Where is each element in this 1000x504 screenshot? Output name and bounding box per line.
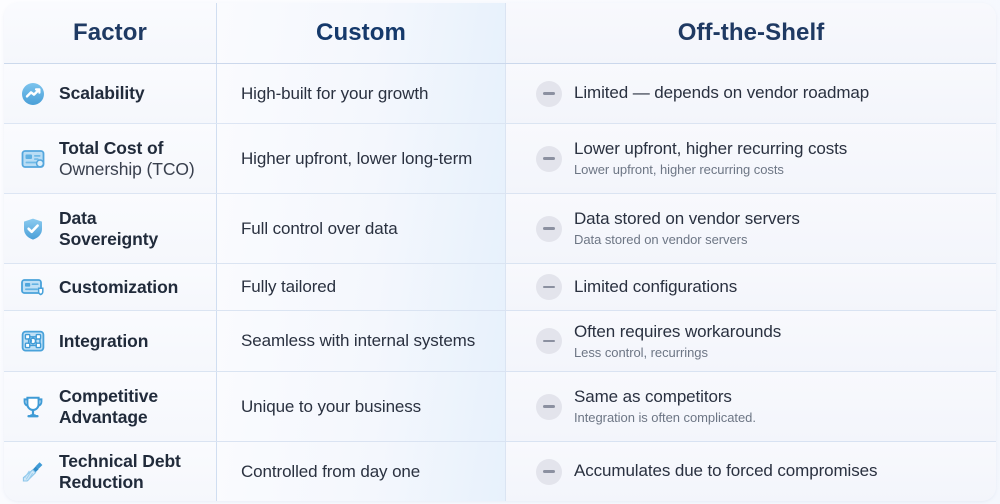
row-off-the-shelf-cell: Data stored on vendor servers Data store… xyxy=(506,194,996,263)
ots-subtext: Less control, recurrings xyxy=(574,345,781,361)
table-header-row: Factor Custom Off-the-Shelf xyxy=(4,3,996,64)
row-factor-cell: Competitive Advantage xyxy=(4,372,216,441)
ots-text: Limited — depends on vendor roadmap xyxy=(574,83,869,104)
table-row: Scalability High-built for your growth L… xyxy=(4,64,996,124)
table-row: Integration Seamless with internal syste… xyxy=(4,311,996,372)
row-custom-cell: Higher upfront, lower long-term xyxy=(216,124,506,193)
ots-subtext: Lower upfront, higher recurring costs xyxy=(574,162,847,178)
row-off-the-shelf-cell: Lower upfront, higher recurring costs Lo… xyxy=(506,124,996,193)
factor-label: Customization xyxy=(59,277,178,298)
row-factor-cell: Customization xyxy=(4,264,216,310)
ots-text: Limited configurations xyxy=(574,277,737,298)
row-custom-cell: Fully tailored xyxy=(216,264,506,310)
ots-text: Data stored on vendor servers xyxy=(574,209,800,230)
header-label-factor: Factor xyxy=(4,3,216,63)
trend-chart-circle-icon xyxy=(18,79,48,109)
table-row: Customization Fully tailored Limited con… xyxy=(4,264,996,311)
header-label-off-the-shelf: Off-the-Shelf xyxy=(506,3,996,63)
ots-text: Accumulates due to forced compromises xyxy=(574,461,877,482)
cost-card-icon xyxy=(18,144,48,174)
integration-network-icon xyxy=(18,326,48,356)
row-off-the-shelf-cell: Same as competitors Integration is often… xyxy=(506,372,996,441)
ots-text: Same as competitors xyxy=(574,387,756,408)
shield-check-icon xyxy=(18,214,48,244)
header-cell-custom: Custom xyxy=(216,3,506,63)
ots-subtext: Data stored on vendor servers xyxy=(574,232,800,248)
minus-circle-icon xyxy=(536,81,562,107)
custom-text: Seamless with internal systems xyxy=(241,330,475,351)
table-row: Data Sovereignty Full control over data … xyxy=(4,194,996,264)
minus-circle-icon xyxy=(536,459,562,485)
factor-label: Total Cost of Ownership (TCO) xyxy=(59,138,195,179)
header-cell-off-the-shelf: Off-the-Shelf xyxy=(506,3,996,63)
row-factor-cell: Scalability xyxy=(4,64,216,123)
row-custom-cell: Unique to your business xyxy=(216,372,506,441)
row-off-the-shelf-cell: Limited configurations xyxy=(506,264,996,310)
row-factor-cell: Data Sovereignty xyxy=(4,194,216,263)
minus-circle-icon xyxy=(536,394,562,420)
row-custom-cell: Full control over data xyxy=(216,194,506,263)
custom-text: Controlled from day one xyxy=(241,461,420,482)
comparison-table: Factor Custom Off-the-Shelf xyxy=(4,3,996,501)
row-off-the-shelf-cell: Accumulates due to forced compromises xyxy=(506,442,996,501)
minus-circle-icon xyxy=(536,146,562,172)
factor-label: Competitive Advantage xyxy=(59,386,158,427)
minus-circle-icon xyxy=(536,328,562,354)
ots-text: Often requires workarounds xyxy=(574,322,781,343)
table-row: Competitive Advantage Unique to your bus… xyxy=(4,372,996,442)
row-factor-cell: Technical Debt Reduction xyxy=(4,442,216,501)
ots-text: Lower upfront, higher recurring costs xyxy=(574,139,847,160)
factor-label: Integration xyxy=(59,331,148,352)
table-row: Total Cost of Ownership (TCO) Higher upf… xyxy=(4,124,996,194)
row-off-the-shelf-cell: Often requires workarounds Less control,… xyxy=(506,311,996,371)
header-cell-factor: Factor xyxy=(4,3,216,63)
factor-label: Technical Debt Reduction xyxy=(59,451,181,492)
row-factor-cell: Integration xyxy=(4,311,216,371)
trophy-icon xyxy=(18,392,48,422)
row-factor-cell: Total Cost of Ownership (TCO) xyxy=(4,124,216,193)
row-custom-cell: Seamless with internal systems xyxy=(216,311,506,371)
factor-label: Scalability xyxy=(59,83,144,104)
custom-text: Unique to your business xyxy=(241,396,421,417)
table-row: Technical Debt Reduction Controlled from… xyxy=(4,442,996,501)
header-label-custom: Custom xyxy=(217,3,505,63)
factor-label: Data Sovereignty xyxy=(59,208,158,249)
row-off-the-shelf-cell: Limited — depends on vendor roadmap xyxy=(506,64,996,123)
comparison-table-page: Factor Custom Off-the-Shelf xyxy=(0,0,1000,504)
custom-text: High-built for your growth xyxy=(241,83,428,104)
customization-card-icon xyxy=(18,272,48,302)
row-custom-cell: Controlled from day one xyxy=(216,442,506,501)
ots-subtext: Integration is often complicated. xyxy=(574,410,756,426)
custom-text: Fully tailored xyxy=(241,276,336,297)
minus-circle-icon xyxy=(536,216,562,242)
row-custom-cell: High-built for your growth xyxy=(216,64,506,123)
broom-icon xyxy=(18,457,48,487)
custom-text: Higher upfront, lower long-term xyxy=(241,148,472,169)
custom-text: Full control over data xyxy=(241,218,398,239)
minus-circle-icon xyxy=(536,274,562,300)
